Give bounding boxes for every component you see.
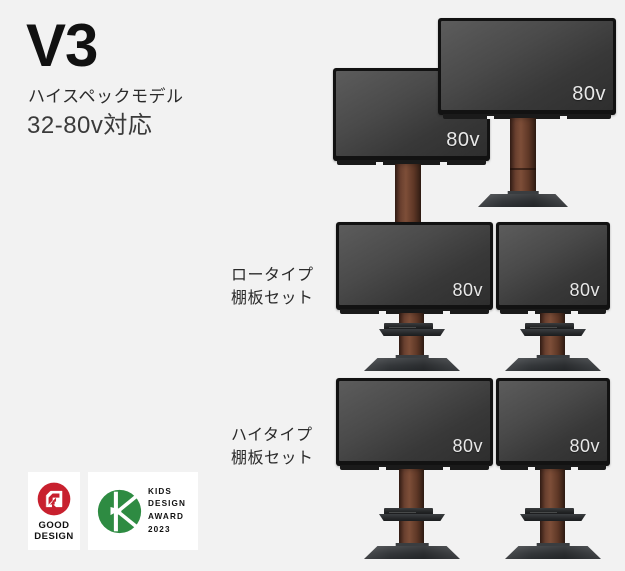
good-design-g-mark (37, 482, 71, 516)
tv-size-label: 80v (452, 280, 483, 301)
tv-screen: 80v (441, 21, 613, 110)
tv-panel: 80v (336, 222, 493, 310)
tv-screen: 80v (499, 381, 607, 461)
shelf-board (520, 508, 586, 521)
tv-panel: 80v (496, 378, 610, 466)
page-title: V3 (26, 16, 97, 76)
stand-base (364, 543, 460, 559)
stand-post (510, 118, 536, 200)
stand-base (478, 191, 568, 207)
base-highlight (364, 358, 460, 371)
supported-size-range: 32-80v対応 (27, 112, 152, 141)
stand-base (364, 355, 460, 371)
award-badges: GOOD DESIGN KIDS DESIGN AWARD 2023 (28, 472, 198, 550)
tv-size-label: 80v (572, 83, 606, 106)
product-unit-low-shelf-right: 80v (496, 222, 625, 370)
tv-screen: 80v (339, 225, 490, 305)
tv-size-label: 80v (452, 436, 483, 457)
post-joint (510, 168, 536, 170)
caption-low-shelf-set: ロータイプ 棚板セット (231, 264, 314, 310)
tv-panel: 80v (496, 222, 610, 310)
shelf-plate (379, 329, 445, 336)
stand-base (505, 355, 601, 371)
caption-high-shelf-set: ハイタイプ 棚板セット (231, 424, 314, 470)
stand-base (505, 543, 601, 559)
tv-panel: 80v (438, 18, 616, 115)
product-unit-low-shelf-left: 80v (336, 222, 496, 370)
product-unit-high-shelf-left: 80v (336, 378, 496, 563)
kids-design-award-label: KIDS DESIGN AWARD 2023 (148, 486, 186, 537)
base-highlight (505, 358, 601, 371)
shelf-plate (520, 329, 586, 336)
product-feature-banner: V3 ハイスペックモデル 32-80v対応 ロータイプ 棚板セット ハイタイプ … (0, 0, 625, 571)
badge-kids-design-award: KIDS DESIGN AWARD 2023 (88, 472, 198, 550)
badge-good-design: GOOD DESIGN (28, 472, 80, 550)
shelf-board (379, 323, 445, 336)
base-highlight (478, 194, 568, 207)
tv-screen: 80v (339, 381, 490, 461)
tv-size-label: 80v (569, 280, 600, 301)
tv-panel: 80v (336, 378, 493, 466)
good-design-label: GOOD DESIGN (34, 521, 73, 543)
base-highlight (505, 546, 601, 559)
product-unit-high-shelf-right: 80v (496, 378, 625, 563)
product-unit-standard-high: 80v (438, 18, 618, 213)
shelf-board (379, 508, 445, 521)
shelf-plate (520, 514, 586, 521)
tv-screen: 80v (499, 225, 607, 305)
kids-design-k-mark (97, 489, 142, 534)
tv-size-label: 80v (569, 436, 600, 457)
model-tagline: ハイスペックモデル (28, 86, 183, 107)
shelf-plate (379, 514, 445, 521)
base-highlight (364, 546, 460, 559)
shelf-board (520, 323, 586, 336)
